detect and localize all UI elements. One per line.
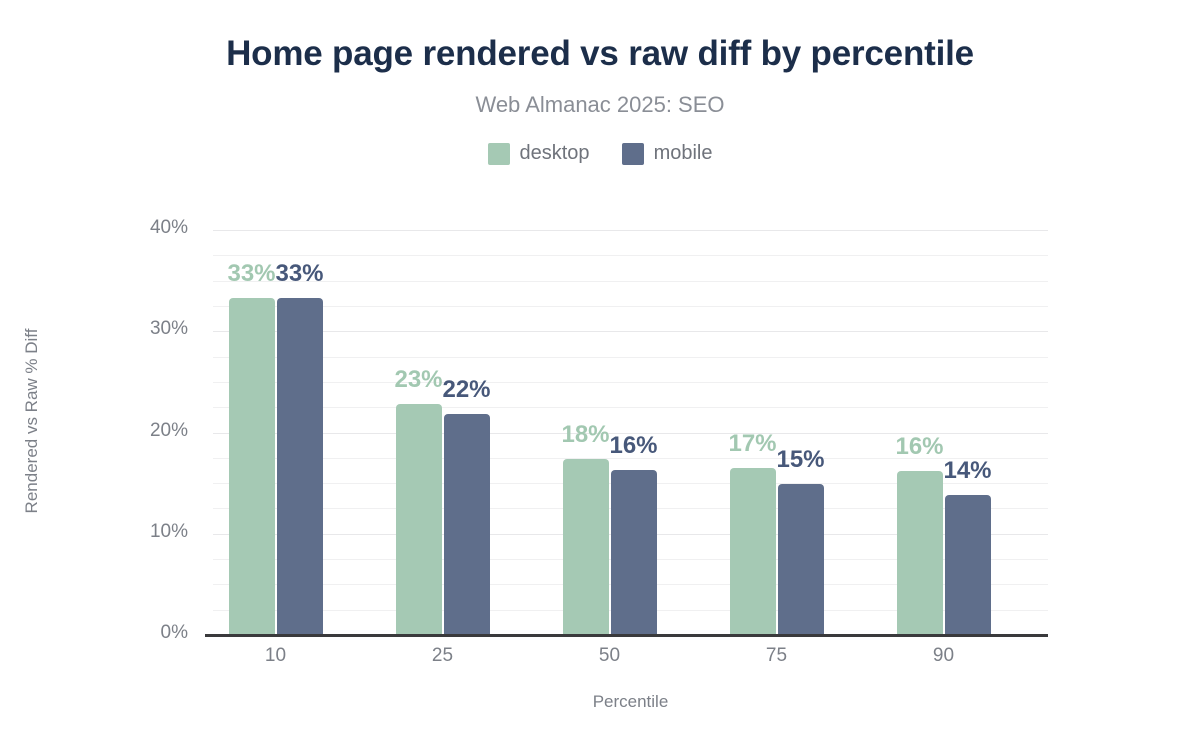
legend-label-mobile: mobile [654,142,713,165]
gridline [213,281,1048,282]
gridline [213,306,1048,307]
bar-mobile-50[interactable] [611,470,657,635]
y-axis-title: Rendered vs Raw % Diff [22,206,46,636]
legend-item-desktop[interactable]: desktop [488,142,590,165]
bar-desktop-50[interactable] [563,459,609,635]
legend-swatch-mobile [622,143,644,165]
chart-figure: Home page rendered vs raw diff by percen… [0,0,1200,742]
value-label-mobile-25: 22% [435,376,499,404]
value-label-mobile-10: 33% [268,260,332,288]
y-axis-tick-label: 40% [108,217,188,239]
legend-item-mobile[interactable]: mobile [622,142,713,165]
legend-swatch-desktop [488,143,510,165]
x-axis-tick-label: 50 [550,645,670,667]
y-axis-tick-label: 20% [108,420,188,442]
value-label-mobile-90: 14% [936,457,1000,485]
page-title: Home page rendered vs raw diff by percen… [0,34,1200,74]
x-axis-title: Percentile [213,692,1048,712]
bar-mobile-90[interactable] [945,495,991,635]
chart-legend: desktop mobile [0,142,1200,165]
y-axis-tick-label: 30% [108,318,188,340]
gridline [213,407,1048,408]
chart-subtitle: Web Almanac 2025: SEO [0,92,1200,118]
x-axis-tick-label: 75 [717,645,837,667]
y-axis-tick-label: 0% [108,622,188,644]
bar-mobile-75[interactable] [778,484,824,635]
legend-label-desktop: desktop [520,142,590,165]
x-axis-tick-label: 10 [216,645,336,667]
bar-mobile-10[interactable] [277,298,323,635]
gridline [213,382,1048,383]
bar-desktop-75[interactable] [730,468,776,635]
value-label-mobile-75: 15% [769,446,833,474]
bar-mobile-25[interactable] [444,414,490,635]
gridline [213,357,1048,358]
bar-desktop-90[interactable] [897,471,943,635]
value-label-mobile-50: 16% [602,432,666,460]
gridline [213,255,1048,256]
bar-desktop-25[interactable] [396,404,442,635]
x-axis-tick-label: 90 [884,645,1004,667]
y-axis-tick-label: 10% [108,521,188,543]
x-axis-tick-label: 25 [383,645,503,667]
x-axis-line [205,634,1048,637]
gridline [213,230,1048,231]
gridline [213,331,1048,332]
bar-desktop-10[interactable] [229,298,275,635]
